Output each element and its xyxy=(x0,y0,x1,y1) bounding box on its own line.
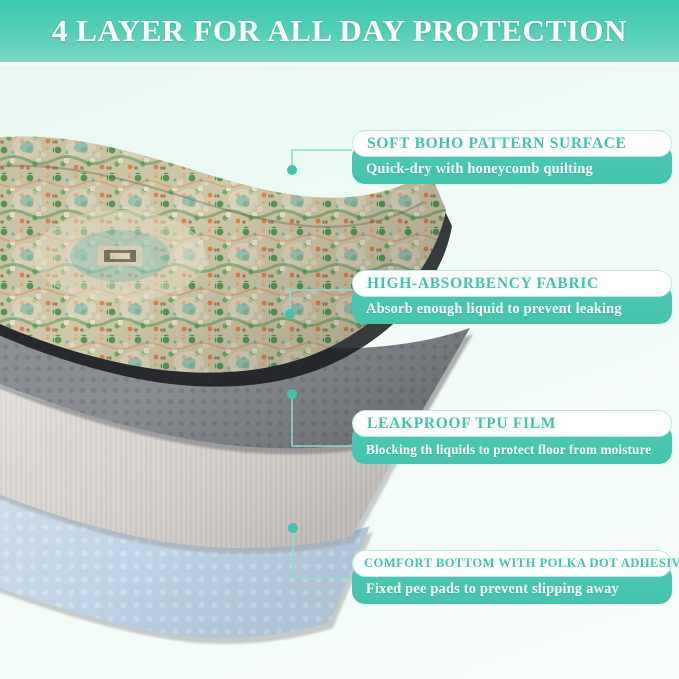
callout-high-absorbency-fabric: HIGH-ABSORBENCY FABRIC Absorb enough liq… xyxy=(352,270,672,324)
callout-leakproof-tpu-film: LEAKPROOF TPU FILM Blocking th liquids t… xyxy=(352,410,672,464)
callout-subtitle-4: Fixed pee pads to prevent slipping away xyxy=(366,582,619,597)
connector-line-1 xyxy=(292,150,352,170)
callout-title-pill-2: HIGH-ABSORBENCY FABRIC xyxy=(352,270,672,297)
header-banner: 4 LAYER FOR ALL DAY PROTECTION xyxy=(0,0,679,62)
infographic-root: 4 LAYER FOR ALL DAY PROTECTION xyxy=(0,0,679,679)
callout-title-3: LEAKPROOF TPU FILM xyxy=(367,416,556,432)
connector-dot-4 xyxy=(288,523,298,533)
connector-dot-1 xyxy=(287,165,297,175)
callout-comfort-bottom-with-polka-dot-adhesive: COMFORT BOTTOM WITH POLKA DOT ADHESIVE F… xyxy=(352,550,672,604)
callout-title-1: SOFT BOHO PATTERN SURFACE xyxy=(367,136,627,152)
callout-subtitle-1: Quick-dry with honeycomb quilting xyxy=(366,162,593,177)
connector-dot-3 xyxy=(287,389,297,399)
callout-title-pill-4: COMFORT BOTTOM WITH POLKA DOT ADHESIVE xyxy=(352,550,672,577)
callout-soft-boho-pattern-surface: SOFT BOHO PATTERN SURFACE Quick-dry with… xyxy=(352,130,672,184)
callout-title-pill-3: LEAKPROOF TPU FILM xyxy=(352,410,672,437)
callout-subtitle-3: Blocking th liquids to protect floor fro… xyxy=(366,443,651,456)
callout-title-pill-1: SOFT BOHO PATTERN SURFACE xyxy=(352,130,672,157)
page-title: 4 LAYER FOR ALL DAY PROTECTION xyxy=(52,13,627,49)
callout-title-2: HIGH-ABSORBENCY FABRIC xyxy=(367,276,599,292)
callout-subtitle-2: Absorb enough liquid to prevent leaking xyxy=(366,302,622,317)
connector-dot-2 xyxy=(285,309,295,319)
callout-title-4: COMFORT BOTTOM WITH POLKA DOT ADHESIVE xyxy=(364,557,679,570)
